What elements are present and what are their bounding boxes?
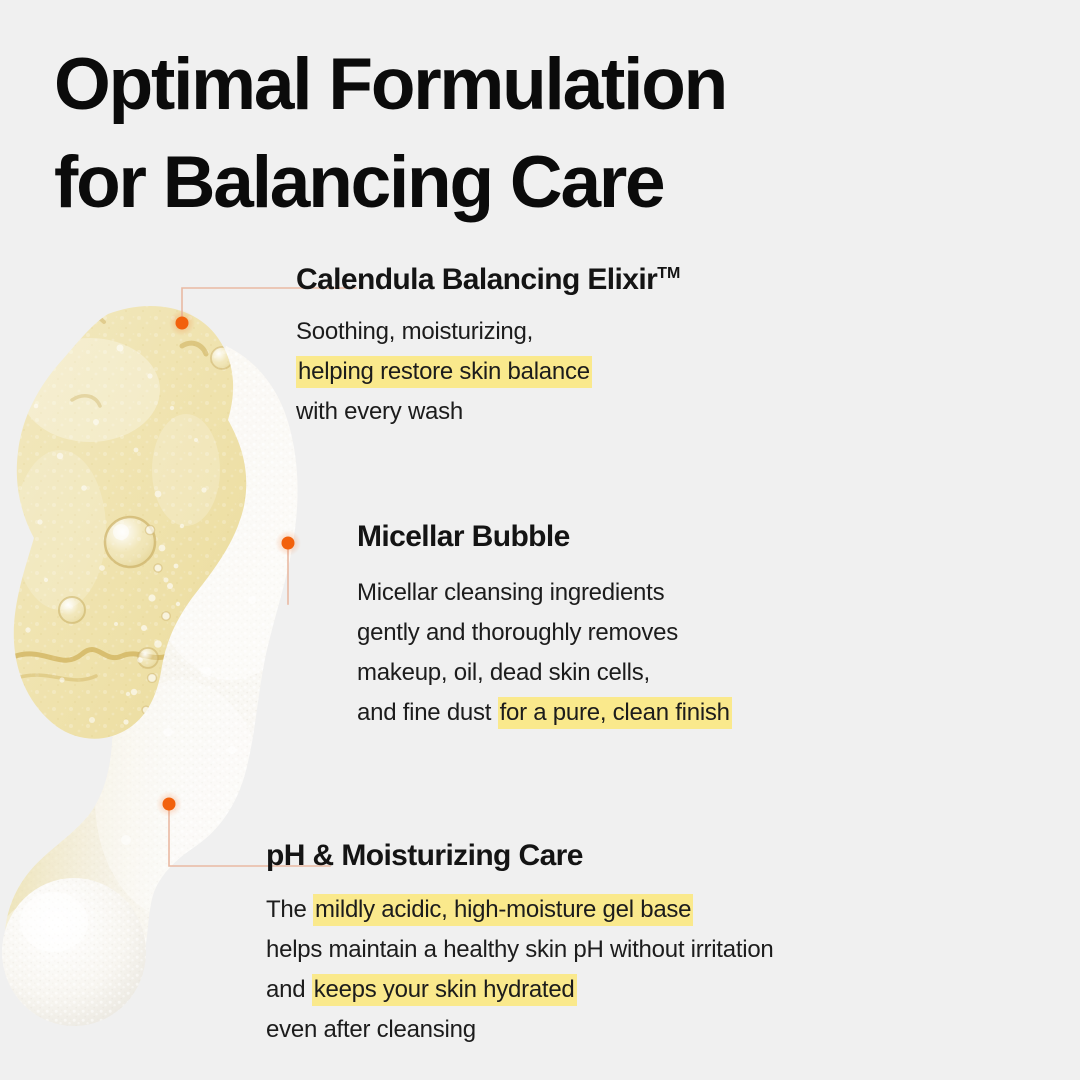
body-line: Soothing, moisturizing,	[296, 312, 680, 352]
plain-text: Micellar cleansing ingredients	[357, 579, 664, 606]
infographic-canvas: Optimal Formulation for Balancing Care C…	[0, 0, 1080, 1080]
body-line: The mildly acidic, high-moisture gel bas…	[266, 890, 774, 930]
title-line-1: Optimal Formulation	[54, 36, 1014, 134]
highlighted-text: helping restore skin balance	[296, 356, 592, 388]
body-line: helping restore skin balance	[296, 352, 680, 392]
callout-elixir-heading: Calendula Balancing ElixirTM	[296, 262, 680, 298]
body-line: helps maintain a healthy skin pH without…	[266, 930, 774, 970]
trademark-symbol: TM	[657, 265, 680, 282]
callout-micellar: Micellar Bubble Micellar cleansing ingre…	[357, 519, 732, 733]
plain-text: and fine dust	[357, 699, 498, 726]
callout-ph-body: The mildly acidic, high-moisture gel bas…	[266, 890, 774, 1050]
body-line: makeup, oil, dead skin cells,	[357, 653, 732, 693]
plain-text: and	[266, 976, 312, 1003]
body-line: even after cleansing	[266, 1010, 774, 1050]
callout-elixir-body: Soothing, moisturizing, helping restore …	[296, 312, 680, 432]
callout-micellar-heading: Micellar Bubble	[357, 519, 732, 555]
highlighted-text: for a pure, clean finish	[498, 697, 732, 729]
body-line: and fine dust for a pure, clean finish	[357, 693, 732, 733]
callout-ph-heading: pH & Moisturizing Care	[266, 838, 774, 874]
highlighted-text: keeps your skin hydrated	[312, 974, 577, 1006]
callout-micellar-body: Micellar cleansing ingredients gently an…	[357, 573, 732, 733]
page-title: Optimal Formulation for Balancing Care	[54, 36, 1014, 232]
plain-text: makeup, oil, dead skin cells,	[357, 659, 650, 686]
callout-elixir: Calendula Balancing ElixirTM Soothing, m…	[296, 262, 680, 432]
callout-ph: pH & Moisturizing Care The mildly acidic…	[266, 838, 774, 1050]
plain-text: gently and thoroughly removes	[357, 619, 678, 646]
callout-elixir-heading-text: Calendula Balancing Elixir	[296, 263, 657, 296]
body-line: and keeps your skin hydrated	[266, 970, 774, 1010]
plain-text: Soothing, moisturizing,	[296, 318, 533, 345]
body-line: gently and thoroughly removes	[357, 613, 732, 653]
title-line-2: for Balancing Care	[54, 134, 1014, 232]
foam-droplet	[2, 878, 146, 1026]
plain-text: helps maintain a healthy skin pH without…	[266, 936, 774, 963]
plain-text: even after cleansing	[266, 1016, 476, 1043]
body-line: Micellar cleansing ingredients	[357, 573, 732, 613]
highlighted-text: mildly acidic, high-moisture gel base	[313, 894, 693, 926]
plain-text: with every wash	[296, 398, 463, 425]
body-line: with every wash	[296, 392, 680, 432]
plain-text: The	[266, 896, 313, 923]
